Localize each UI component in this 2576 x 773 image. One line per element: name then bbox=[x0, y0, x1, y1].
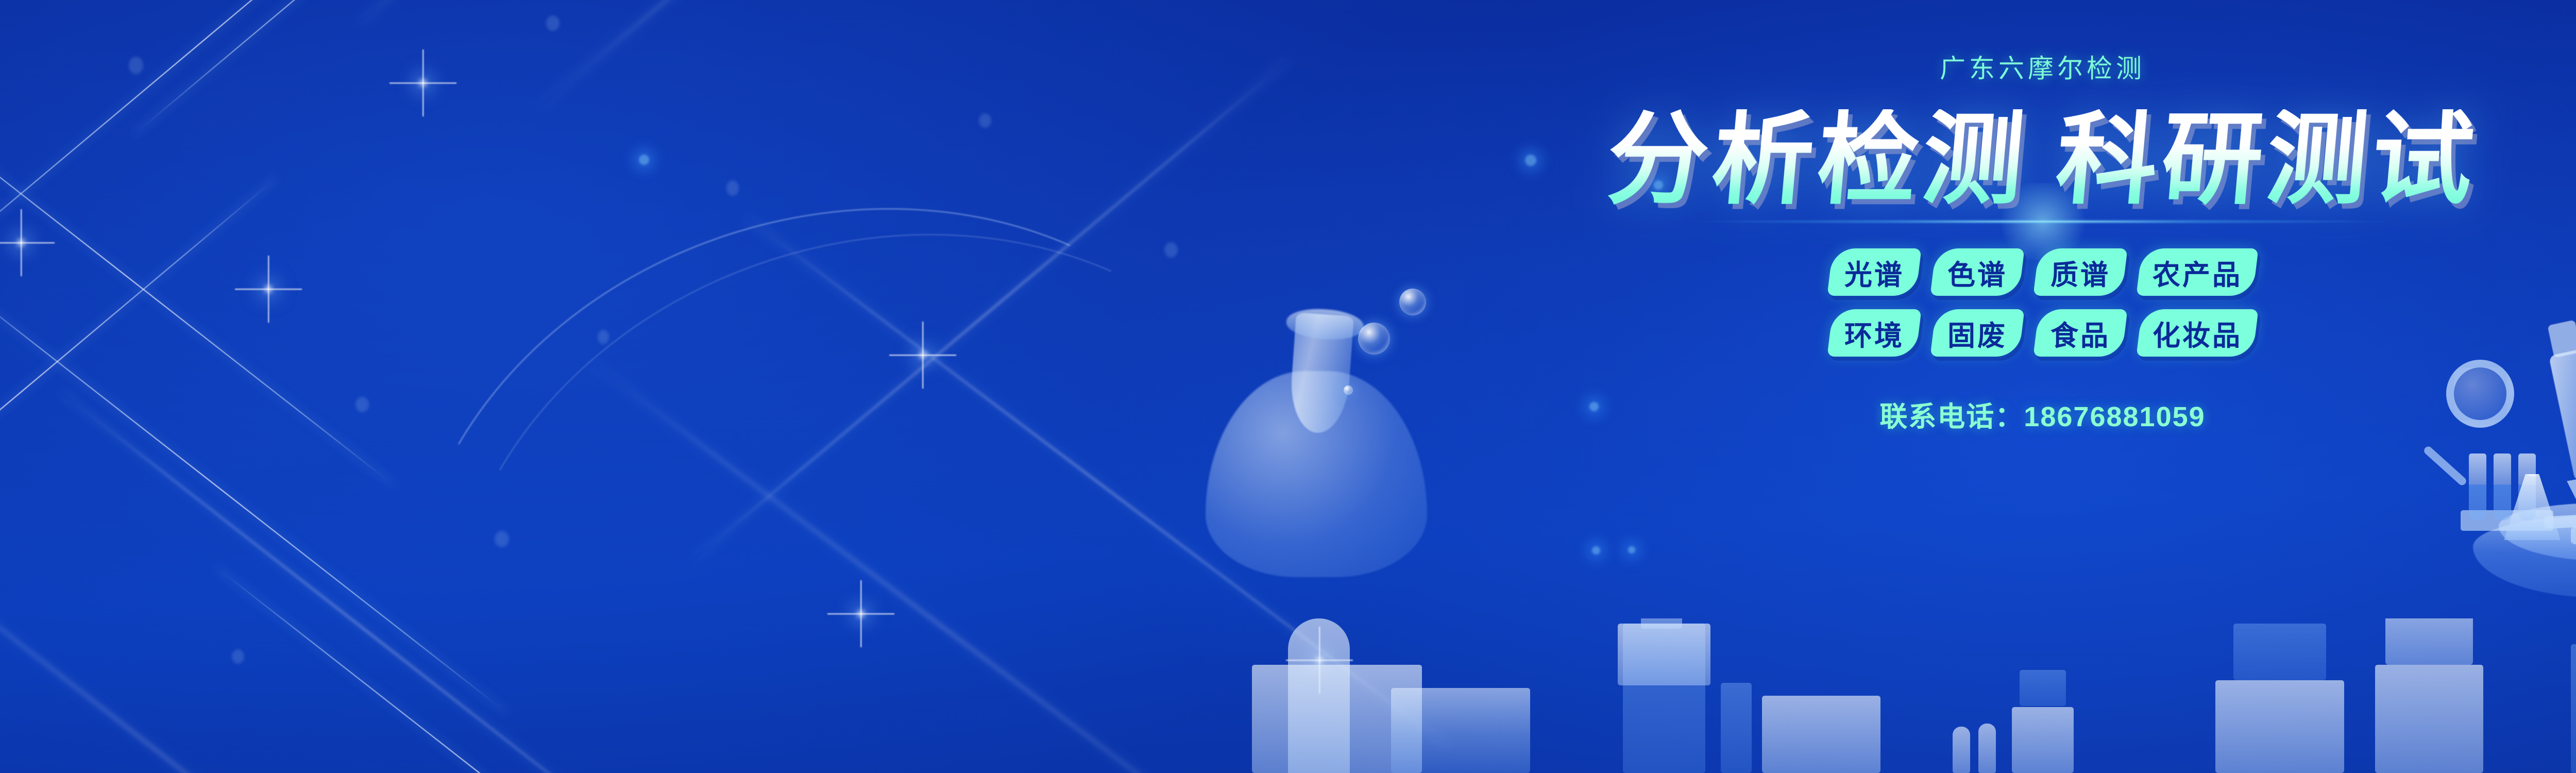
service-tag-rows: 光谱 色谱 质谱 农产品 环境 固废 bbox=[1830, 248, 2256, 357]
tag-huazhuangpin[interactable]: 化妆品 bbox=[2136, 309, 2258, 357]
tag-label: 化妆品 bbox=[2153, 313, 2242, 354]
tag-shipin[interactable]: 食品 bbox=[2033, 309, 2127, 357]
contact-phone[interactable]: 联系电话：18676881059 bbox=[1879, 394, 2205, 434]
tag-label: 食品 bbox=[2050, 313, 2110, 354]
service-tag-row-2: 环境 固废 食品 化妆品 bbox=[1830, 309, 2256, 357]
headline-part-2: 科研测试 bbox=[2052, 101, 2483, 219]
banner-content: 广东六摩尔检测 分析检测科研测试 光谱 色谱 质谱 农产品 bbox=[0, 0, 2576, 773]
tag-label: 固废 bbox=[1947, 313, 2007, 354]
tag-label: 环境 bbox=[1844, 313, 1904, 354]
brand-name: 广东六摩尔检测 bbox=[1940, 56, 2145, 81]
headline: 分析检测科研测试 bbox=[1603, 109, 2482, 210]
banner-stage: 广东六摩尔检测 分析检测科研测试 光谱 色谱 质谱 农产品 bbox=[0, 0, 2576, 773]
tag-nongchanpin[interactable]: 农产品 bbox=[2136, 248, 2258, 296]
tag-label: 色谱 bbox=[1947, 252, 2007, 293]
tag-zhipu[interactable]: 质谱 bbox=[2033, 248, 2127, 296]
tag-gufei[interactable]: 固废 bbox=[1930, 309, 2024, 357]
headline-part-1: 分析检测 bbox=[1603, 101, 2033, 219]
tag-huanjing[interactable]: 环境 bbox=[1827, 309, 1921, 357]
service-tag-row-1: 光谱 色谱 质谱 农产品 bbox=[1830, 248, 2256, 296]
tag-sepu[interactable]: 色谱 bbox=[1930, 248, 2024, 296]
tag-label: 光谱 bbox=[1844, 252, 1904, 293]
tag-label: 农产品 bbox=[2153, 252, 2242, 293]
tag-label: 质谱 bbox=[2050, 252, 2110, 293]
tag-guangpu[interactable]: 光谱 bbox=[1827, 248, 1921, 296]
